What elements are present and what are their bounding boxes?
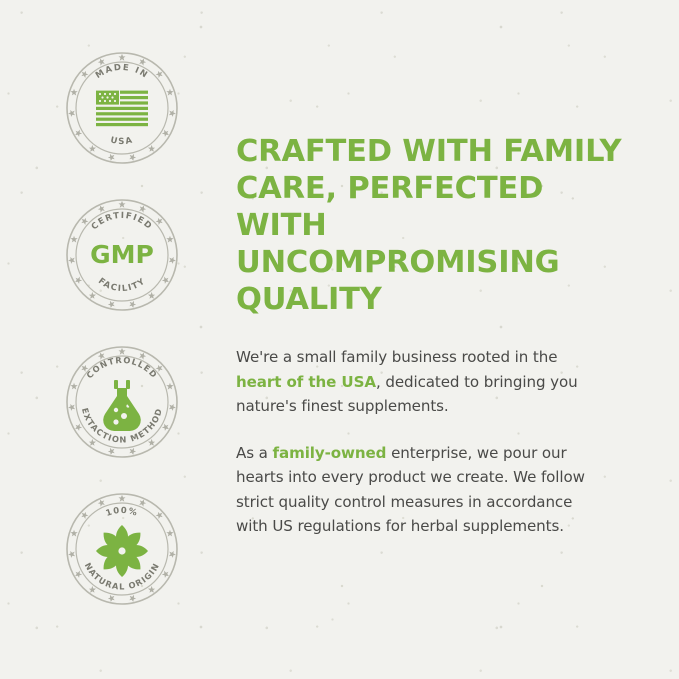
badge-top-label: CERTIFIED	[90, 211, 154, 232]
paragraph-2-text-part-1: As a	[236, 444, 273, 462]
svg-text:USA: USA	[109, 135, 134, 147]
badge-gmp-certified-facility: GMP CERTIFIED FACILITY	[58, 191, 186, 319]
paragraph-2-highlight: family-owned	[273, 444, 387, 462]
badge-bottom-label: USA	[109, 135, 134, 147]
svg-text:100%: 100%	[105, 506, 140, 519]
badge-natural-origin: 100% NATURAL ORIGIN	[58, 485, 186, 613]
badge-made-in-usa: MADE IN USA	[58, 44, 186, 172]
svg-text:MADE IN: MADE IN	[94, 63, 150, 81]
badge-top-label: CONTROLLED	[84, 355, 159, 380]
paragraph-1-text-part-1: We're a small family business rooted in …	[236, 348, 557, 366]
leaf-rosette-icon	[96, 525, 148, 577]
paragraph-1-highlight: heart of the USA	[236, 373, 376, 391]
body-paragraph-2: As a family-owned enterprise, we pour ou…	[236, 441, 596, 539]
badge-controlled-extraction-method: CONTROLLED EXTACTION METHOD	[58, 338, 186, 466]
badge-bottom-label: FACILITY	[96, 276, 148, 294]
page-title: CRAFTED WITH FAMILY CARE, PERFECTED WITH…	[236, 134, 623, 318]
extraction-badge-graphic: CONTROLLED EXTACTION METHOD	[58, 338, 186, 466]
page-layout: MADE IN USA	[0, 0, 679, 679]
natural-origin-badge-graphic: 100% NATURAL ORIGIN	[58, 485, 186, 613]
us-flag-icon	[96, 91, 148, 127]
content-column: CRAFTED WITH FAMILY CARE, PERFECTED WITH…	[218, 0, 679, 679]
svg-text:CONTROLLED: CONTROLLED	[84, 355, 159, 380]
svg-text:CERTIFIED: CERTIFIED	[90, 211, 154, 232]
gmp-badge-graphic: GMP CERTIFIED FACILITY	[58, 191, 186, 319]
svg-text:FACILITY: FACILITY	[96, 276, 148, 294]
made-in-usa-badge-graphic: MADE IN USA	[58, 44, 186, 172]
certification-badges-column: MADE IN USA	[0, 0, 218, 679]
badge-top-label: 100%	[105, 506, 140, 519]
body-paragraph-1: We're a small family business rooted in …	[236, 345, 596, 418]
flask-icon	[103, 380, 141, 431]
gmp-text-icon: GMP	[90, 240, 154, 269]
badge-top-label: MADE IN	[94, 63, 150, 81]
